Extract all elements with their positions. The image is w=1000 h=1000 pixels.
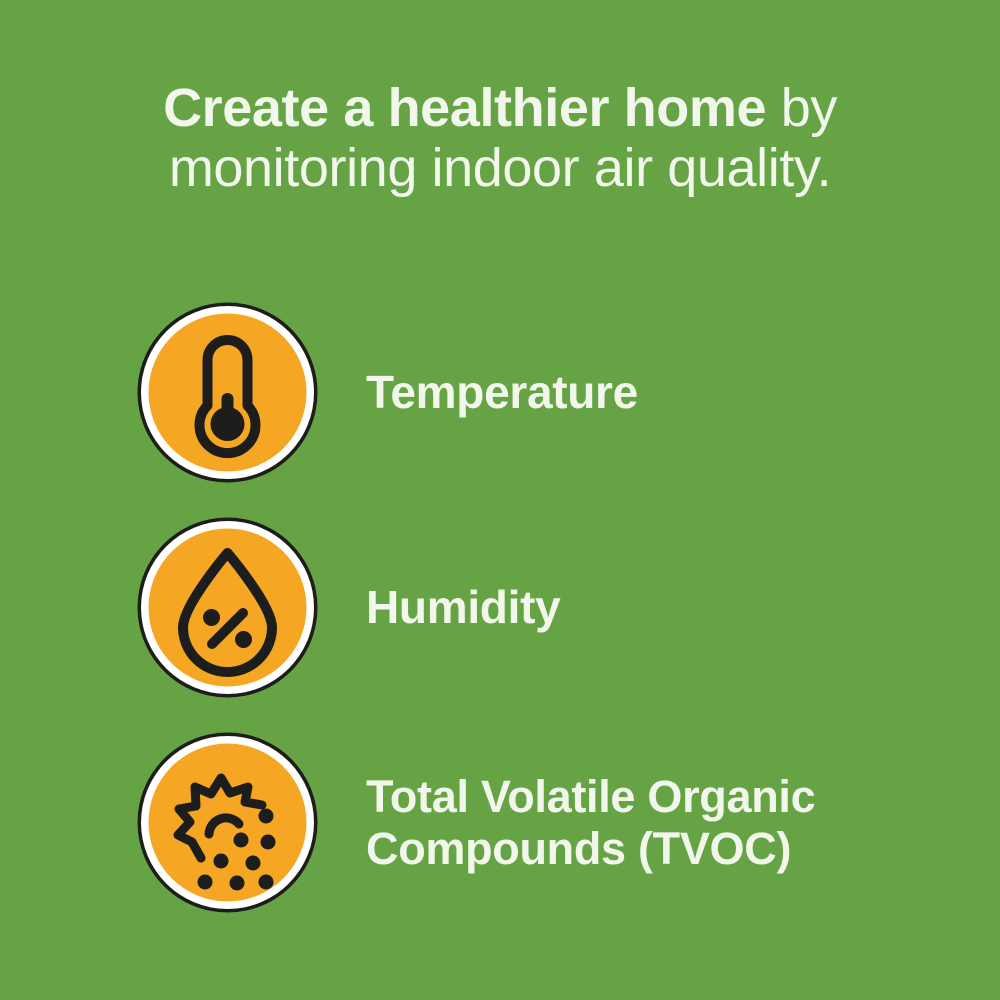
air-quality-poster: Create a healthier home by monitoring in… — [0, 0, 1000, 1000]
headline-regular-text: by — [766, 78, 837, 138]
thermometer-icon — [135, 300, 320, 485]
temperature-badge — [135, 300, 320, 485]
tvoc-badge — [135, 730, 320, 915]
feature-label-humidity: Humidity — [366, 581, 560, 633]
page-title: Create a healthier home by monitoring in… — [0, 78, 1000, 199]
feature-row-temperature: Temperature — [0, 300, 1000, 485]
humidity-badge — [135, 515, 320, 700]
feature-list: Temperature Humidity — [0, 300, 1000, 945]
feature-label-temperature: Temperature — [366, 366, 638, 418]
water-droplet-percent-icon — [135, 515, 320, 700]
feature-row-tvoc: Total Volatile Organic Compounds (TVOC) — [0, 730, 1000, 915]
particles-burst-icon — [135, 730, 320, 915]
headline-line-two: monitoring indoor air quality. — [169, 138, 831, 198]
headline-bold-text: Create a healthier home — [163, 78, 766, 138]
feature-label-tvoc: Total Volatile Organic Compounds (TVOC) — [366, 771, 815, 874]
feature-row-humidity: Humidity — [0, 515, 1000, 700]
